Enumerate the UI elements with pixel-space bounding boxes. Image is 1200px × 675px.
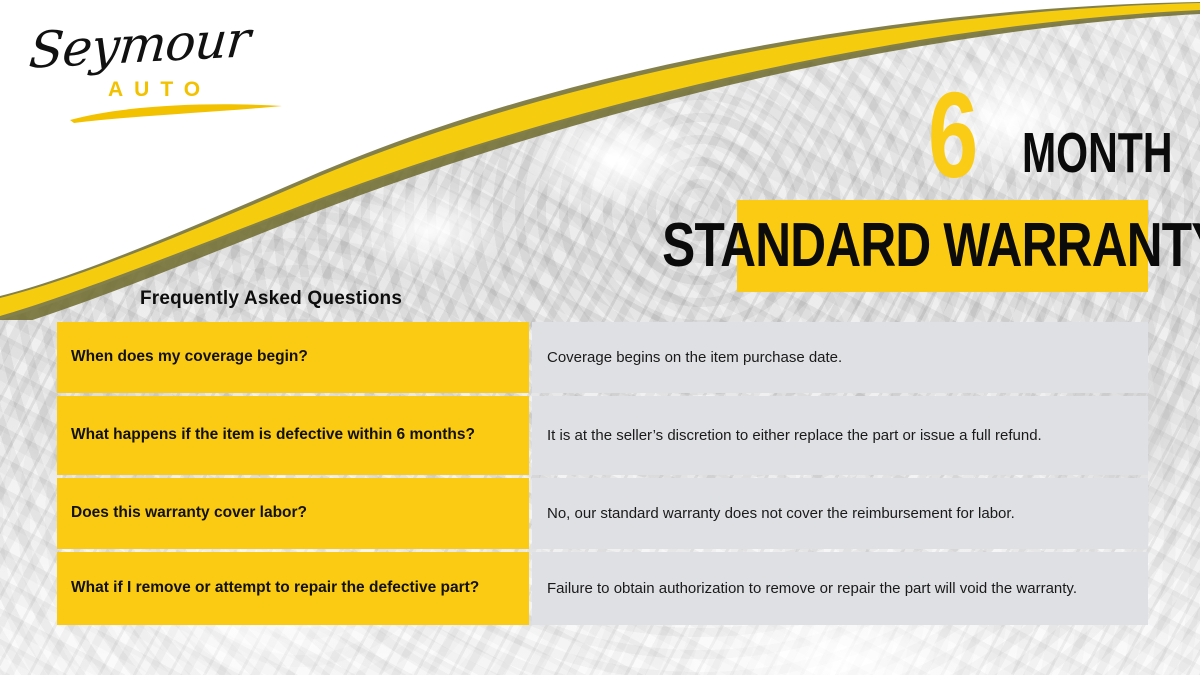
faq-answer-text: It is at the seller’s discretion to eith… [547, 425, 1042, 446]
faq-section-title: Frequently Asked Questions [140, 288, 402, 310]
faq-answer-cell: It is at the seller’s discretion to eith… [532, 396, 1148, 475]
faq-answer-text: Failure to obtain authorization to remov… [547, 578, 1077, 599]
brand-logo: Seymour AUTO [24, 22, 274, 118]
faq-answer-cell: Failure to obtain authorization to remov… [532, 552, 1148, 625]
faq-answer-text: Coverage begins on the item purchase dat… [547, 347, 842, 368]
faq-question-text: Does this warranty cover labor? [71, 503, 307, 524]
faq-question-text: What happens if the item is defective wi… [71, 425, 475, 446]
warranty-slide: Seymour AUTO 6 MONTH STANDARD WARRANTY F… [0, 0, 1200, 675]
faq-question-text: What if I remove or attempt to repair th… [71, 578, 479, 599]
faq-question-cell: What happens if the item is defective wi… [57, 396, 529, 475]
faq-row: What if I remove or attempt to repair th… [57, 552, 1148, 625]
faq-question-cell: When does my coverage begin? [57, 322, 529, 393]
faq-question-cell: What if I remove or attempt to repair th… [57, 552, 529, 625]
faq-row: When does my coverage begin? Coverage be… [57, 322, 1148, 393]
faq-answer-text: No, our standard warranty does not cover… [547, 503, 1015, 524]
faq-answer-cell: No, our standard warranty does not cover… [532, 478, 1148, 549]
faq-question-cell: Does this warranty cover labor? [57, 478, 529, 549]
brand-logo-swoosh-icon [68, 102, 288, 124]
faq-question-text: When does my coverage begin? [71, 347, 308, 368]
faq-table: When does my coverage begin? Coverage be… [57, 322, 1148, 625]
warranty-headline-text: STANDARD WARRANTY [662, 215, 1200, 277]
warranty-headline-banner: STANDARD WARRANTY [737, 200, 1148, 292]
warranty-duration-unit: MONTH [1022, 125, 1172, 182]
brand-logo-script: Seymour [27, 10, 252, 79]
faq-row: Does this warranty cover labor? No, our … [57, 478, 1148, 549]
warranty-duration-number: 6 [928, 74, 976, 196]
faq-row: What happens if the item is defective wi… [57, 396, 1148, 475]
faq-answer-cell: Coverage begins on the item purchase dat… [532, 322, 1148, 393]
brand-logo-subtitle: AUTO [108, 78, 211, 102]
